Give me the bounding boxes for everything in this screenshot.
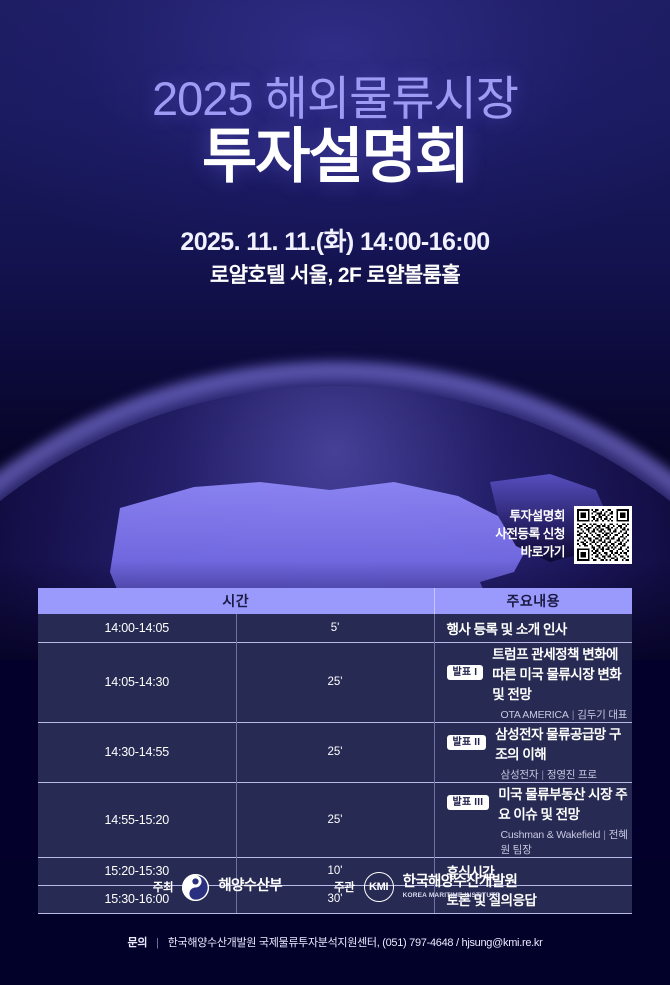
session-badge: 발표 III xyxy=(447,795,490,810)
talk-headline: 발표 I 트럼프 관세정책 변화에 따른 미국 물류시장 변화 및 전망 xyxy=(447,643,633,703)
host-group: 주최 해양수산부 xyxy=(153,874,282,901)
table-row: 14:30-14:55 25' 발표 II 삼성전자 물류공급망 구조의 이해 … xyxy=(38,722,632,782)
speaker-org: 삼성전자 xyxy=(501,769,539,781)
qr-caption-line3: 바로가기 xyxy=(495,544,565,562)
speaker-line: 삼성전자|정영진 프로 xyxy=(501,767,633,782)
qr-code-icon[interactable] xyxy=(574,506,632,564)
schedule-table: 시간 주요내용 14:00-14:05 5' 행사 등록 및 소개 인사 14:… xyxy=(38,588,632,914)
session-badge: 발표 I xyxy=(447,665,484,680)
organizer-bar: 주최 해양수산부 주관 KMI 한국해양수산개발원 KOREA MARITIME… xyxy=(0,872,670,902)
row-time: 14:30-14:55 xyxy=(38,722,236,782)
column-header-content: 주요내용 xyxy=(434,588,632,614)
table-row: 14:05-14:30 25' 발표 I 트럼프 관세정책 변화에 따른 미국 … xyxy=(38,642,632,722)
row-time: 14:00-14:05 xyxy=(38,614,236,642)
row-duration: 5' xyxy=(236,614,434,642)
talk-headline: 발표 II 삼성전자 물류공급망 구조의 이해 xyxy=(447,723,633,763)
session-badge: 발표 II xyxy=(447,735,487,750)
speaker-separator: | xyxy=(572,709,575,721)
row-content: 발표 II 삼성전자 물류공급망 구조의 이해 삼성전자|정영진 프로 xyxy=(434,722,632,782)
row-time: 14:05-14:30 xyxy=(38,642,236,722)
table-row: 14:55-15:20 25' 발표 III 미국 물류부동산 시장 주요 이슈… xyxy=(38,782,632,857)
speaker-org: Cushman & Wakefield xyxy=(501,829,601,841)
speaker-org: OTA AMERICA xyxy=(501,709,569,721)
row-title: 트럼프 관세정책 변화에 따른 미국 물류시장 변화 및 전망 xyxy=(492,643,632,703)
organizer-name-block: 한국해양수산개발원 KOREA MARITIME INSTITUTE xyxy=(403,875,518,898)
speaker-line: OTA AMERICA|김두기 대표 xyxy=(501,707,633,722)
kmi-mark-text: KMI xyxy=(369,881,388,893)
qr-caption-line2: 사전등록 신청 xyxy=(495,526,565,544)
organizer-name-en: KOREA MARITIME INSTITUTE xyxy=(403,892,518,899)
event-poster: 2025 해외물류시장 투자설명회 2025. 11. 11.(화) 14:00… xyxy=(0,0,670,985)
organizer-label: 주관 xyxy=(334,879,355,895)
host-name: 해양수산부 xyxy=(218,879,282,894)
talk-headline: 발표 III 미국 물류부동산 시장 주요 이슈 및 전망 xyxy=(447,783,633,823)
row-content: 발표 I 트럼프 관세정책 변화에 따른 미국 물류시장 변화 및 전망 OTA… xyxy=(434,642,632,722)
organizer-group: 주관 KMI 한국해양수산개발원 KOREA MARITIME INSTITUT… xyxy=(334,872,517,902)
taegeuk-logo-icon xyxy=(182,874,209,901)
organizer-name: 한국해양수산개발원 xyxy=(403,875,518,890)
contact-label: 문의 xyxy=(128,937,148,949)
registration-qr-block[interactable]: 투자설명회 사전등록 신청 바로가기 xyxy=(495,506,632,564)
qr-caption: 투자설명회 사전등록 신청 바로가기 xyxy=(495,508,565,561)
row-time: 14:55-15:20 xyxy=(38,782,236,857)
column-header-time: 시간 xyxy=(38,588,434,614)
speaker-name: 김두기 대표 xyxy=(577,709,627,721)
row-duration: 25' xyxy=(236,722,434,782)
qr-caption-line1: 투자설명회 xyxy=(495,508,565,526)
kmi-logo-icon: KMI xyxy=(364,872,394,902)
event-venue: 로얄호텔 서울, 2F 로얄볼룸홀 xyxy=(0,262,670,289)
speaker-separator: | xyxy=(603,829,606,841)
speaker-line: Cushman & Wakefield|전혜원 팀장 xyxy=(501,827,633,857)
row-title: 행사 등록 및 소개 인사 xyxy=(447,622,567,637)
page-title: 투자설명회 xyxy=(0,126,670,188)
poster-header: 2025 해외물류시장 투자설명회 2025. 11. 11.(화) 14:00… xyxy=(0,74,670,290)
speaker-separator: | xyxy=(541,769,544,781)
row-content: 행사 등록 및 소개 인사 xyxy=(434,614,632,642)
contact-line: 문의|한국해양수산개발원 국제물류투자분석지원센터, (051) 797-464… xyxy=(0,934,670,950)
contact-separator: | xyxy=(156,937,159,949)
row-content: 발표 III 미국 물류부동산 시장 주요 이슈 및 전망 Cushman & … xyxy=(434,782,632,857)
title-year-line: 2025 해외물류시장 xyxy=(0,74,670,124)
table-row: 14:00-14:05 5' 행사 등록 및 소개 인사 xyxy=(38,614,632,642)
speaker-name: 정영진 프로 xyxy=(547,769,597,781)
row-title: 삼성전자 물류공급망 구조의 이해 xyxy=(495,723,632,763)
event-datetime: 2025. 11. 11.(화) 14:00-16:00 xyxy=(0,226,670,258)
host-label: 주최 xyxy=(153,879,174,895)
contact-text: 한국해양수산개발원 국제물류투자분석지원센터, (051) 797-4648 /… xyxy=(168,937,543,949)
row-duration: 25' xyxy=(236,642,434,722)
row-title: 미국 물류부동산 시장 주요 이슈 및 전망 xyxy=(498,783,632,823)
row-duration: 25' xyxy=(236,782,434,857)
table-header-row: 시간 주요내용 xyxy=(38,588,632,614)
